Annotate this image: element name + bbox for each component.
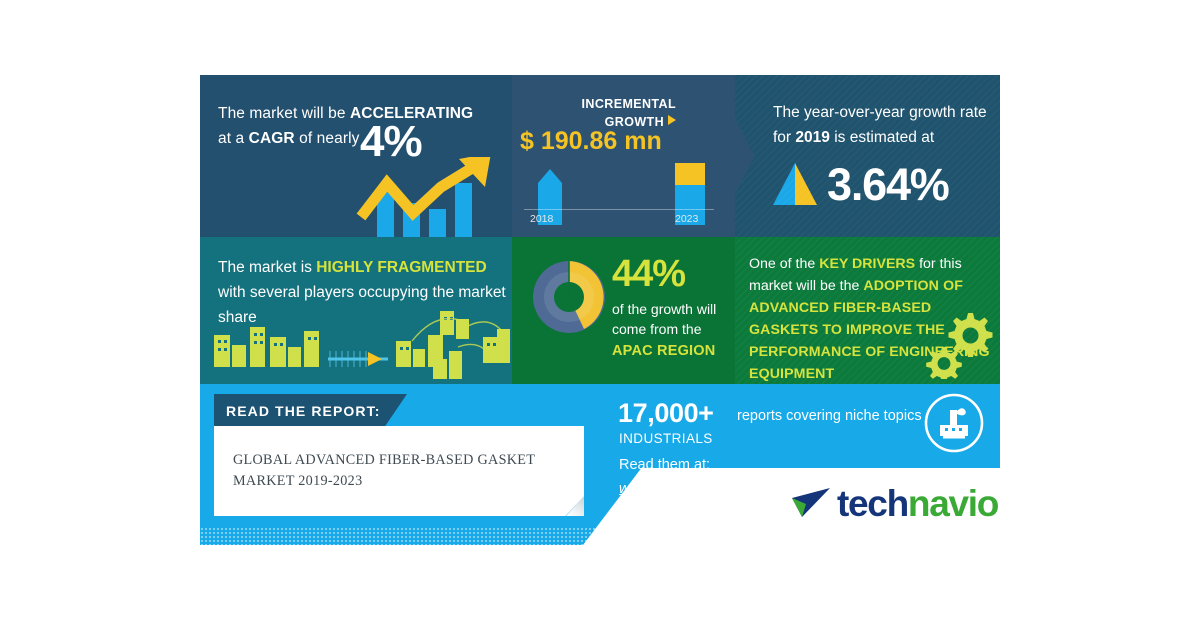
incremental-growth-panel: INCREMENTAL GROWTH $ 190.86 mn 2018 2023 (512, 75, 735, 237)
reports-caption: reports covering niche topics (737, 408, 922, 424)
incremental-start-year-label: 2018 (530, 213, 553, 225)
key-drivers-panel: One of the KEY DRIVERS for this market w… (735, 237, 1000, 384)
yoy-line2-plain-a: for (773, 129, 795, 146)
fragmented-market-panel: The market is HIGHLY FRAGMENTED with sev… (200, 237, 512, 384)
yoy-statement: The year-over-year growth rate for 2019 … (773, 101, 988, 151)
fragmented-text-a: The market is (218, 259, 316, 276)
city-buildings-fragmentation-icon (200, 307, 512, 381)
logo-text-tech: tech (837, 483, 908, 524)
top-row: The market will be ACCELERATING at a CAG… (200, 75, 1000, 237)
cagr-panel: The market will be ACCELERATING at a CAG… (200, 75, 512, 237)
play-triangle-icon (668, 115, 676, 125)
cagr-line2-bold: CAGR (249, 130, 295, 147)
driver-text-a: One of the (749, 256, 819, 272)
chevron-right-icon (735, 118, 755, 194)
sector-label: INDUSTRIALS (619, 431, 713, 446)
fragmented-highlight: HIGHLY FRAGMENTED (316, 259, 487, 276)
yoy-growth-panel: The year-over-year growth rate for 2019 … (735, 75, 1000, 237)
yoy-line2-plain-b: is estimated at (830, 129, 934, 146)
factory-badge-icon (923, 392, 985, 459)
apac-growth-panel: 44% of the growth will come from the APA… (512, 237, 735, 384)
technavio-logo-text: technavio (837, 483, 998, 525)
apac-line2: come from the (612, 321, 701, 337)
report-footer: READ THE REPORT: GLOBAL ADVANCED FIBER-B… (200, 384, 1000, 545)
incremental-growth-value: $ 190.86 mn (520, 127, 720, 156)
cagr-statement: The market will be ACCELERATING at a CAG… (218, 101, 500, 151)
apac-region-label: APAC REGION (612, 343, 715, 359)
read-the-report-label: READ THE REPORT: (226, 403, 381, 419)
incremental-chart-axis (524, 209, 714, 210)
reports-count: 17,000+ (618, 398, 714, 429)
yoy-value: 3.64% (827, 159, 949, 211)
apac-line1: of the growth will (612, 301, 716, 317)
paper-plane-icon (790, 487, 834, 528)
logo-text-navio: navio (908, 483, 998, 524)
apac-statement: of the growth will come from the APAC RE… (612, 299, 735, 362)
cagr-line2-plain-b: of nearly (295, 130, 360, 147)
report-title-text: GLOBAL ADVANCED FIBER-BASED GASKET MARKE… (233, 450, 563, 493)
incremental-end-year-label: 2023 (675, 213, 698, 225)
yoy-line1: The year-over-year growth rate (773, 104, 987, 121)
cagr-line1-plain: The market will be (218, 105, 350, 122)
cagr-line2-plain-a: at a (218, 130, 249, 147)
driver-highlight: KEY DRIVERS (819, 256, 915, 272)
infographic-root: The market will be ACCELERATING at a CAG… (200, 75, 1000, 545)
incremental-title-line1: INCREMENTAL (582, 97, 676, 111)
triangle-growth-icon (773, 163, 817, 210)
apac-percentage: 44% (612, 253, 685, 296)
rising-arrow-bar-chart-icon (355, 157, 512, 237)
donut-chart-icon (524, 251, 614, 348)
yoy-year: 2019 (795, 129, 829, 146)
gears-icon (916, 309, 994, 384)
incremental-growth-title: INCREMENTAL GROWTH (526, 95, 676, 131)
middle-row: The market is HIGHLY FRAGMENTED with sev… (200, 237, 1000, 384)
